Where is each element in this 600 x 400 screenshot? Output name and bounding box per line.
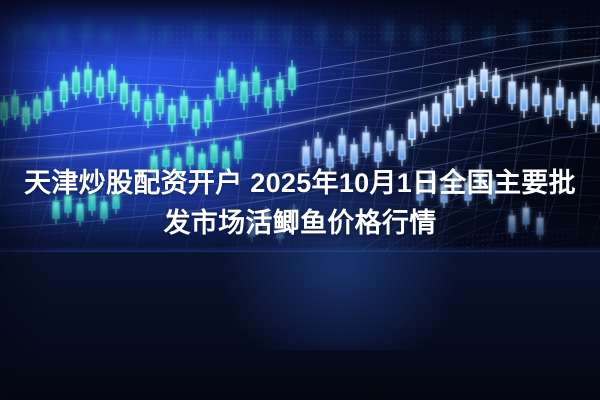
title-line-2: 发市场活鲫鱼价格行情 [18, 203, 582, 243]
banner-image: 天津炒股配资开户 2025年10月1日全国主要批 发市场活鲫鱼价格行情 [0, 0, 600, 400]
title-line-1: 天津炒股配资开户 2025年10月1日全国主要批 [18, 163, 582, 203]
banner-title: 天津炒股配资开户 2025年10月1日全国主要批 发市场活鲫鱼价格行情 [0, 163, 600, 243]
